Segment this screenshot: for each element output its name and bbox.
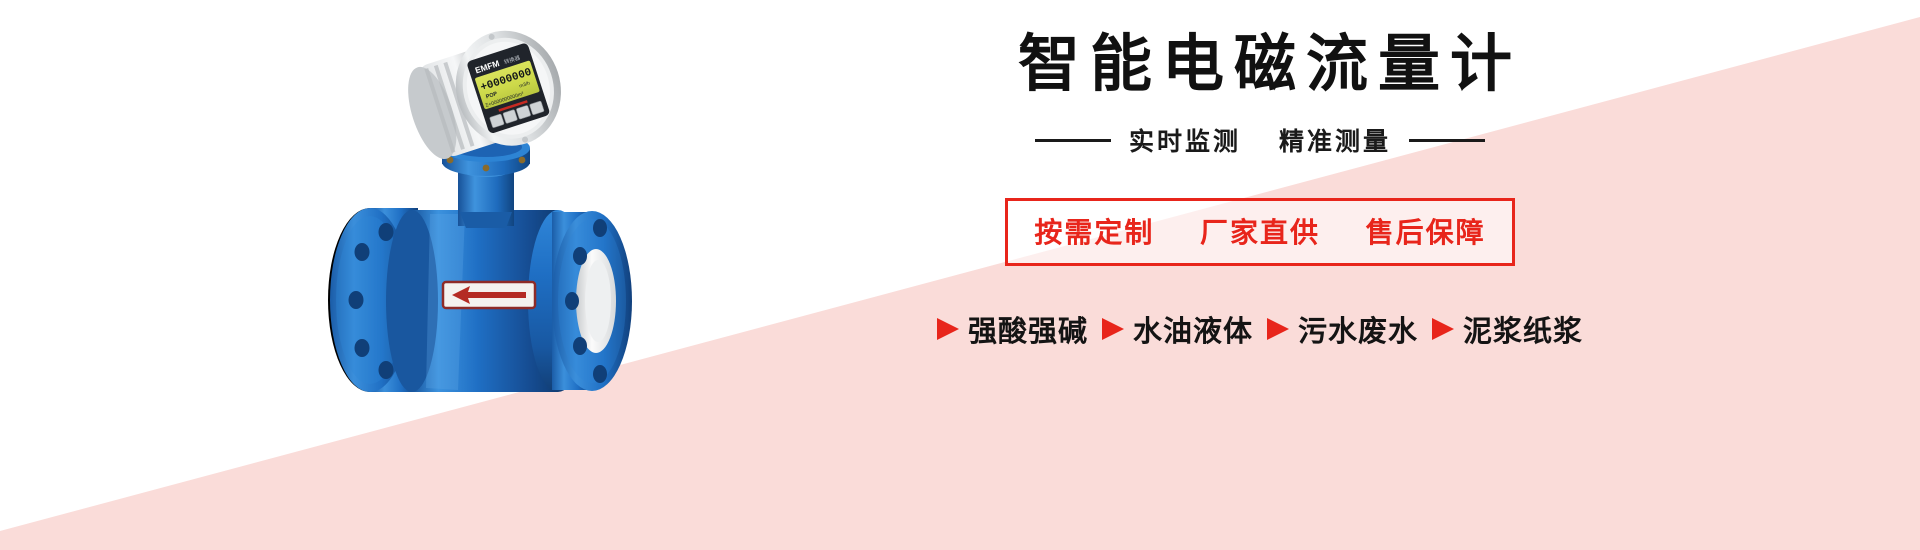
promo-item-0: 按需定制 [1034,217,1154,248]
feature-label: 水油液体 [1133,308,1253,350]
feature-label: 泥浆纸浆 [1463,308,1583,350]
feature-item: 污水废水 [1267,308,1418,350]
arrow-right-icon [1102,318,1124,340]
promo-item-2: 售后保障 [1366,217,1486,248]
feature-label: 污水废水 [1298,308,1418,350]
page-title: 智能电磁流量计 [1008,34,1522,96]
flow-direction-arrow-plate [443,282,535,308]
feature-label: 强酸强碱 [968,308,1088,350]
promotional-banner: EMFM 转换器 +0000000 POP m3/h Σ+0000000000m… [0,0,1920,550]
promo-text: 按需定制 厂家直供 售后保障 [1034,211,1485,251]
subtitle-left: 实时监测 [1129,128,1241,156]
arrow-right-icon [1267,318,1289,340]
feature-list: 强酸强碱 水油液体 污水废水 泥浆纸浆 [937,308,1583,350]
divider-line-right [1409,139,1485,142]
promo-badge-box: 按需定制 厂家直供 售后保障 [1005,198,1514,266]
divider-line-left [1035,139,1111,142]
arrow-right-icon [1432,318,1454,340]
subtitle-row: 实时监测 精准测量 [1035,122,1485,158]
banner-copy-column: 智能电磁流量计 实时监测 精准测量 按需定制 厂家直供 售后保障 强酸强碱 [600,0,1920,550]
feature-item: 泥浆纸浆 [1432,308,1583,350]
feature-item: 水油液体 [1102,308,1253,350]
arrow-right-icon [937,318,959,340]
promo-item-1: 厂家直供 [1200,217,1320,248]
subtitle-right: 精准测量 [1279,128,1391,156]
feature-item: 强酸强碱 [937,308,1088,350]
subtitle-text: 实时监测 精准测量 [1129,122,1391,158]
